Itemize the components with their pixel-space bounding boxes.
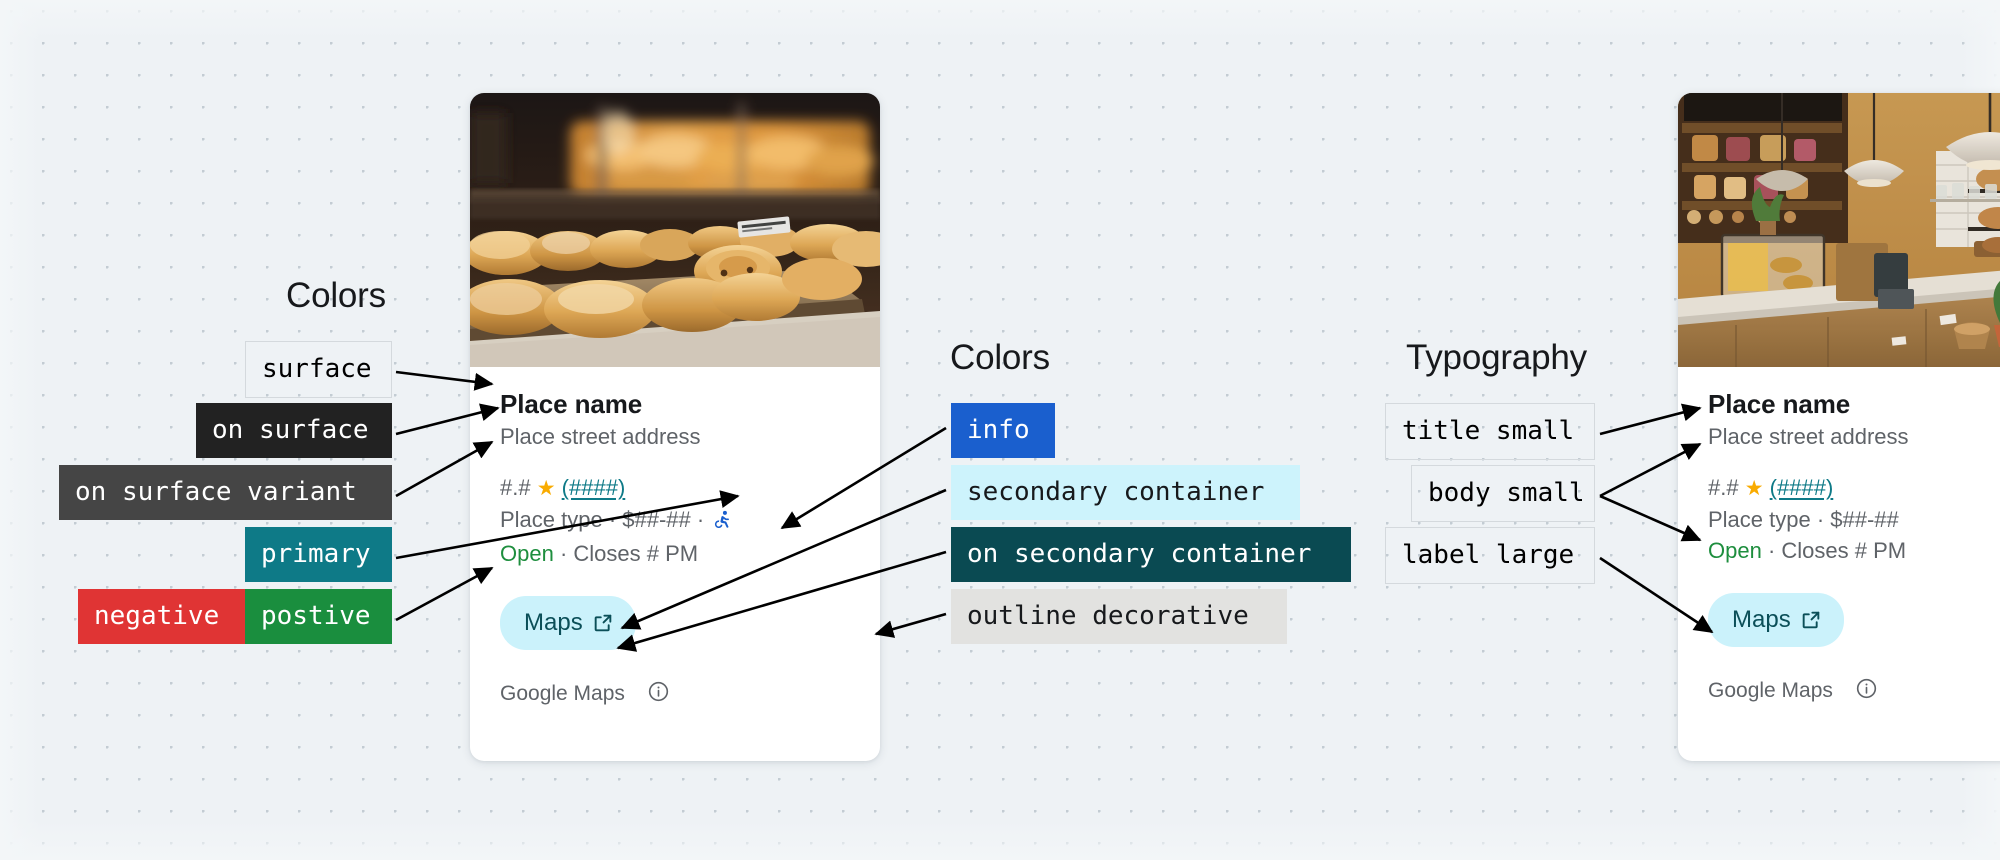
typography-chip-label-large[interactable]: label large [1385, 527, 1595, 584]
place-type-text: Place type · $##-## · [500, 507, 704, 532]
place-card-body: Place name Place street address #.# ★ (#… [470, 367, 880, 650]
typography-chip-title-small[interactable]: title small [1385, 403, 1595, 460]
footer-attribution-label: Google Maps [1708, 679, 1833, 703]
status-open-text: Open [500, 541, 554, 566]
place-name-text: Place name [500, 389, 850, 420]
color-chip-info[interactable]: info [951, 403, 1055, 458]
place-type-line: Place type · $##-## · [500, 504, 850, 538]
color-chip-label: outline decorative [967, 601, 1249, 631]
card-footer: Google Maps [1678, 647, 2000, 731]
typography-chip-label: body small [1428, 478, 1585, 508]
maps-button[interactable]: Maps [500, 596, 636, 650]
status-separator: · [554, 541, 574, 566]
place-name-text: Place name [1708, 389, 2000, 420]
color-chip-label: on surface [212, 415, 369, 445]
typography-chip-label: title small [1402, 416, 1574, 446]
color-chip-on-surface[interactable]: on surface [196, 403, 392, 458]
place-address-text: Place street address [1708, 423, 2000, 452]
color-chip-label: surface [262, 354, 372, 384]
place-photo-cafe [1678, 93, 2000, 367]
info-icon[interactable] [1855, 677, 1878, 705]
status-closes-text: Closes # PM [1781, 538, 1906, 563]
rating-count-link[interactable]: (####) [1770, 475, 1834, 500]
color-chip-label: secondary container [967, 477, 1264, 507]
maps-button-label: Maps [524, 609, 583, 637]
color-chip-label: postive [261, 601, 371, 631]
maps-button[interactable]: Maps [1708, 593, 1844, 647]
color-chip-negative[interactable]: negative [78, 589, 245, 644]
place-photo-bakery [470, 93, 880, 367]
color-chip-label: on secondary container [967, 539, 1311, 569]
heading-typography-right: Typography [1406, 338, 1587, 378]
place-hours-line: Open · Closes # PM [500, 538, 850, 569]
rating-count-link[interactable]: (####) [562, 475, 626, 500]
color-chip-label: on surface variant [75, 477, 357, 507]
color-chip-postive[interactable]: postive [245, 589, 392, 644]
place-meta-block: #.# ★ (####) Place type · $##-## Open · … [1708, 472, 2000, 566]
open-in-new-icon [592, 612, 614, 634]
status-open-text: Open [1708, 538, 1762, 563]
maps-button-label: Maps [1732, 606, 1791, 634]
place-meta-block: #.# ★ (####) Place type · $##-## · Open … [500, 472, 850, 569]
heading-colors-left: Colors [286, 276, 386, 316]
place-card-right[interactable]: Place name Place street address #.# ★ (#… [1678, 93, 2000, 761]
color-chip-label: info [967, 415, 1030, 445]
typography-chip-body-small[interactable]: body small [1411, 465, 1595, 522]
rating-value: #.# [1708, 475, 1739, 500]
status-closes-text: Closes # PM [573, 541, 698, 566]
card-footer: Google Maps [470, 650, 880, 734]
star-icon: ★ [537, 477, 556, 500]
place-card-body: Place name Place street address #.# ★ (#… [1678, 367, 2000, 647]
place-hours-line: Open · Closes # PM [1708, 535, 2000, 566]
wheelchair-icon [712, 507, 732, 538]
info-icon[interactable] [647, 680, 670, 708]
color-chip-label: primary [261, 539, 371, 569]
typography-chip-label: label large [1402, 540, 1574, 570]
place-address-text: Place street address [500, 423, 850, 452]
color-chip-outline-decorative[interactable]: outline decorative [951, 589, 1287, 644]
place-type-line: Place type · $##-## [1708, 504, 2000, 535]
color-chip-label: negative [94, 601, 219, 631]
star-icon: ★ [1745, 477, 1764, 500]
open-in-new-icon [1800, 609, 1822, 631]
place-rating-line: #.# ★ (####) [1708, 472, 2000, 504]
color-chip-on-surface-variant[interactable]: on surface variant [59, 465, 392, 520]
status-separator: · [1762, 538, 1782, 563]
color-chip-primary[interactable]: primary [245, 527, 392, 582]
rating-value: #.# [500, 475, 531, 500]
color-chip-surface[interactable]: surface [245, 341, 392, 398]
color-chip-secondary-container[interactable]: secondary container [951, 465, 1300, 520]
color-chip-on-secondary-container[interactable]: on secondary container [951, 527, 1351, 582]
heading-colors-center: Colors [950, 338, 1050, 378]
footer-attribution-label: Google Maps [500, 682, 625, 706]
place-card-left[interactable]: Place name Place street address #.# ★ (#… [470, 93, 880, 761]
place-rating-line: #.# ★ (####) [500, 472, 850, 504]
